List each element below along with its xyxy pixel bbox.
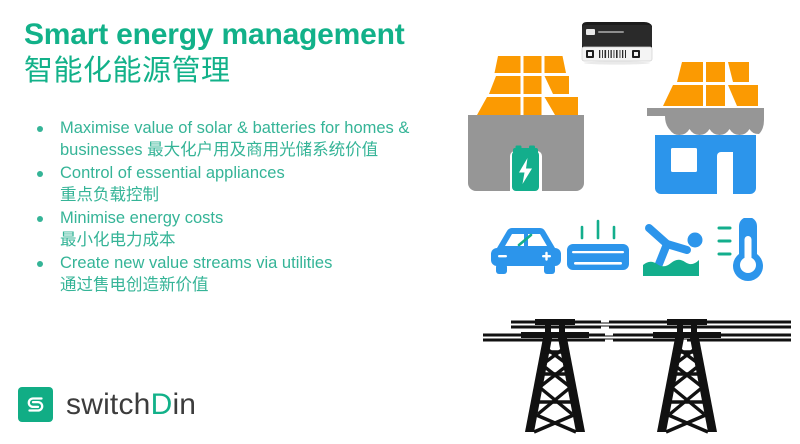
list-item-text: Control of essential appliances	[60, 163, 448, 185]
bullet-list: Maximise value of solar & batteries for …	[30, 118, 448, 298]
thermostat-icon	[719, 218, 763, 281]
switchdin-logo-mark-icon	[18, 387, 53, 422]
bullet-dot-icon	[37, 171, 43, 177]
list-item: Control of essential appliances 重点负载控制	[30, 163, 448, 207]
swimming-pool-icon	[643, 228, 703, 276]
list-item-text: Minimise energy costs	[60, 208, 448, 230]
list-item-text-cn: 重点负载控制	[60, 185, 448, 207]
electric-vehicle-icon	[491, 228, 561, 274]
solar-shop-building-icon	[625, 50, 785, 207]
list-item-text: Create new value streams via utilities	[60, 253, 448, 275]
slide-canvas: Smart energy management 智能化能源管理 Maximise…	[0, 0, 800, 444]
list-item-text-cn: 最小化电力成本	[60, 230, 448, 252]
switchdin-logo: switch D in	[18, 387, 196, 422]
list-item: Maximise value of solar & batteries for …	[30, 118, 448, 162]
list-item: Create new value streams via utilities 通…	[30, 253, 448, 297]
controllable-appliances-icon-row	[485, 218, 775, 295]
bullet-dot-icon	[37, 126, 43, 132]
transmission-towers-icon	[483, 302, 791, 443]
page-title-english: Smart energy management	[24, 18, 454, 52]
bullet-dot-icon	[37, 216, 43, 222]
wordmark-in: in	[172, 390, 196, 420]
list-item-text-cn: 通过售电创造新价值	[60, 275, 448, 297]
bullet-dot-icon	[37, 261, 43, 267]
title-block: Smart energy management 智能化能源管理	[24, 18, 454, 88]
wordmark-d: D	[151, 390, 173, 420]
list-item: Minimise energy costs 最小化电力成本	[30, 208, 448, 252]
wordmark-switch: switch	[66, 390, 151, 420]
switchdin-wordmark: switch D in	[66, 390, 196, 420]
page-title-chinese: 智能化能源管理	[24, 54, 454, 88]
air-conditioner-icon	[567, 221, 629, 270]
list-item-text: Maximise value of solar & batteries for …	[60, 118, 448, 162]
solar-house-with-battery-icon	[452, 48, 600, 205]
